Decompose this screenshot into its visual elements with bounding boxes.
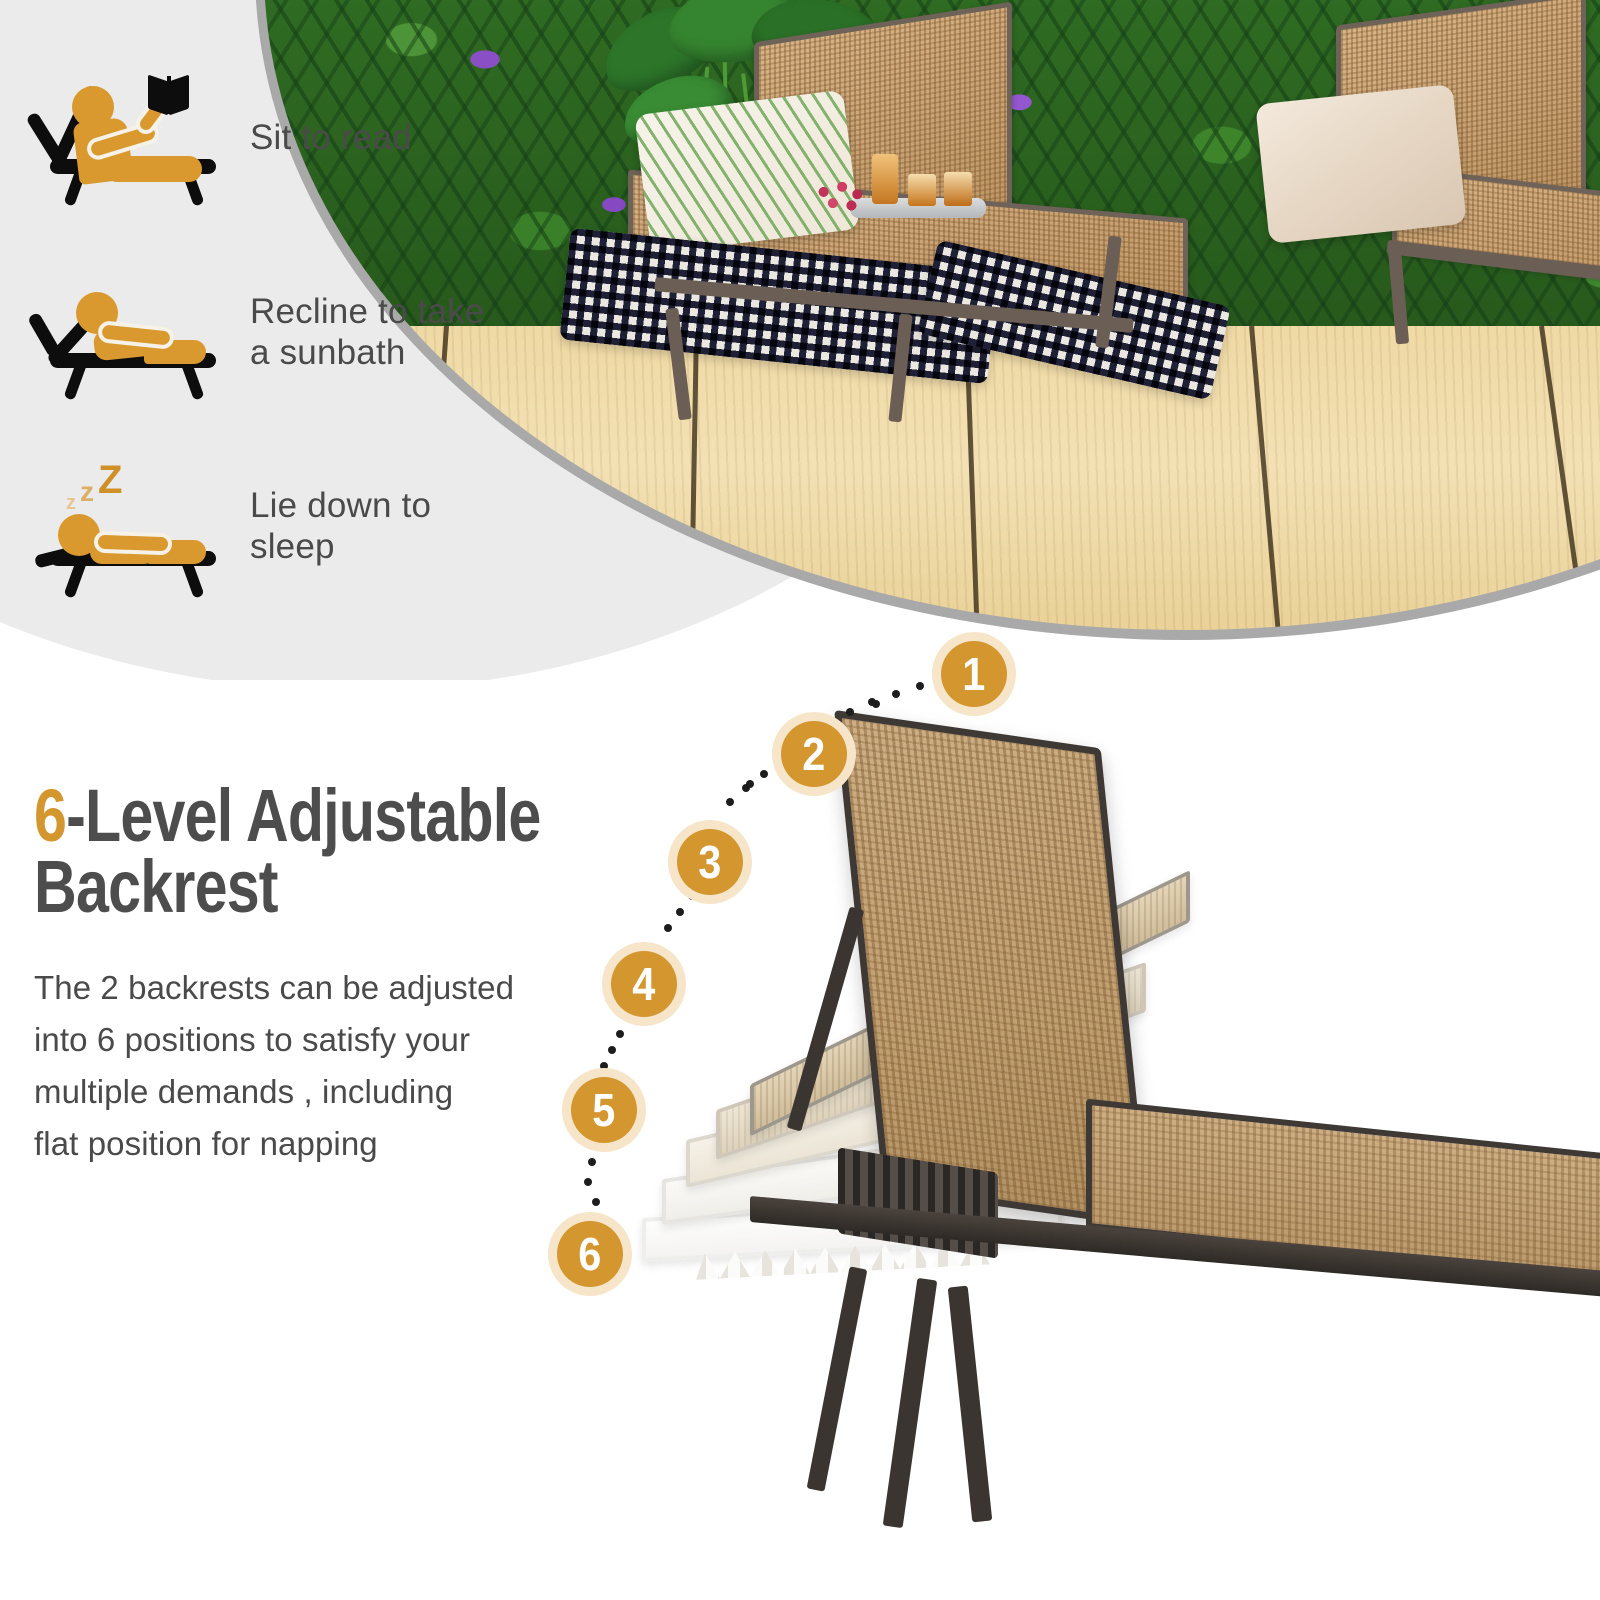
badge-1[interactable]: 1 bbox=[932, 632, 1016, 716]
feature-item: Sit to read bbox=[36, 72, 506, 204]
feature-label: Lie down to sleep bbox=[250, 485, 506, 568]
arc-dot bbox=[892, 690, 900, 698]
arc-dot bbox=[726, 798, 734, 806]
leg-rear bbox=[807, 1266, 868, 1491]
badge-6[interactable]: 6 bbox=[548, 1212, 632, 1296]
product-illustration bbox=[600, 690, 1600, 1570]
arc-dot bbox=[592, 1198, 600, 1206]
badge-3[interactable]: 3 bbox=[668, 820, 752, 904]
sit-to-read-icon bbox=[36, 72, 232, 204]
glass-1 bbox=[908, 174, 936, 206]
arc-dot bbox=[664, 924, 672, 932]
badge-2[interactable]: 2 bbox=[772, 712, 856, 796]
arc-dot bbox=[676, 908, 684, 916]
leg-front-right bbox=[948, 1286, 993, 1523]
title-rest: -Level Adjustable Backrest bbox=[34, 774, 541, 928]
badge-5[interactable]: 5 bbox=[562, 1068, 646, 1152]
infographic-root: Sit to read Recline to take a sunbath bbox=[0, 0, 1600, 1600]
arc-dot bbox=[872, 700, 880, 708]
feature-label: Sit to read bbox=[250, 117, 412, 158]
leg-front-left bbox=[883, 1278, 938, 1528]
feature-item: Z z z Lie down to sleep bbox=[36, 460, 506, 592]
arc-dot bbox=[916, 682, 924, 690]
page-title: 6-Level Adjustable Backrest bbox=[34, 780, 594, 922]
badge-4[interactable]: 4 bbox=[602, 942, 686, 1026]
arc-dot bbox=[588, 1158, 596, 1166]
arc-dot bbox=[846, 708, 854, 716]
arc-dot bbox=[608, 1046, 616, 1054]
lie-down-sleep-icon: Z z z bbox=[36, 460, 232, 592]
chaise-lounge-left bbox=[694, 22, 1334, 402]
decanter bbox=[872, 154, 898, 204]
book-spine bbox=[167, 76, 171, 114]
arc-dot bbox=[584, 1178, 592, 1186]
grapes bbox=[812, 180, 870, 214]
pillow-palm-print bbox=[634, 90, 859, 255]
feature-item: Recline to take a sunbath bbox=[36, 266, 506, 398]
arc-dot bbox=[616, 1030, 624, 1038]
feature-list: Sit to read Recline to take a sunbath bbox=[36, 72, 506, 654]
arc-dot bbox=[746, 780, 754, 788]
feature-label: Recline to take a sunbath bbox=[250, 291, 506, 374]
recline-sunbath-icon bbox=[36, 266, 232, 398]
arc-dot bbox=[760, 770, 768, 778]
glass-2 bbox=[944, 172, 972, 206]
top-photo-zone: Sit to read Recline to take a sunbath bbox=[0, 0, 1600, 680]
